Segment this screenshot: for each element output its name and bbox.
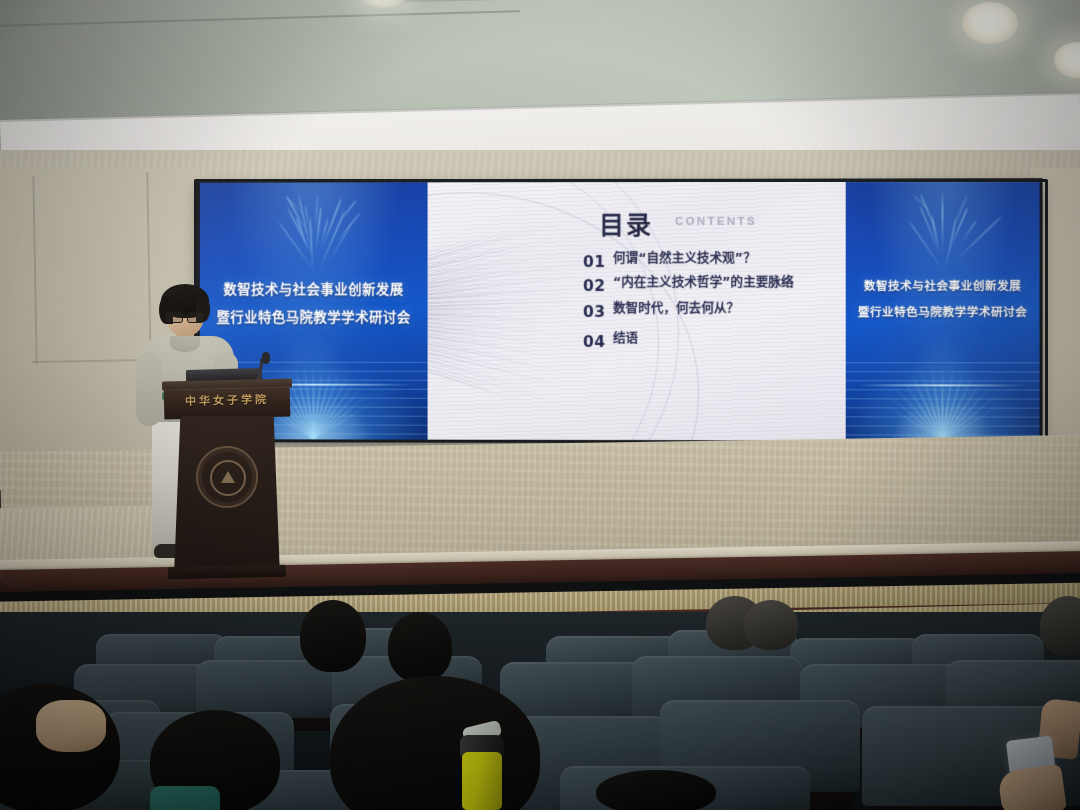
audience-hand-left: [36, 700, 106, 752]
horizon-glow-right: [857, 384, 1028, 386]
podium-base: [168, 565, 286, 579]
toc-number: 04: [583, 330, 613, 351]
toc-text: 何谓“自然主义技术观”？: [613, 250, 756, 266]
toc-item: 02 “内在主义技术哲学”的主要脉络: [583, 274, 836, 295]
ceiling-downlight-1: [962, 2, 1018, 44]
glasses-icon: [166, 312, 204, 322]
podium: 中华女子学院: [162, 380, 292, 576]
slide-toc-list: 01 何谓“自然主义技术观”？ 02 “内在主义技术哲学”的主要脉络 03 数智…: [583, 250, 836, 356]
light-ray: [941, 193, 943, 257]
glasses-lens-left: [166, 312, 183, 323]
university-crest-icon: [196, 446, 258, 508]
light-ray: [908, 220, 946, 273]
toc-number: 01: [583, 250, 613, 271]
auditorium-photo: 数智技术与社会事业创新发展 暨行业特色马院教学学术研讨会 目录 CONTENTS…: [0, 0, 1080, 810]
crest-inner-ring: [210, 460, 246, 496]
audience-clothing-green: [150, 786, 220, 810]
presentation-slide[interactable]: 目录 CONTENTS 01 何谓“自然主义技术观”？ 02 “内在主义技术哲学…: [428, 182, 846, 441]
toc-item: 03 数智时代，何去何从？: [583, 300, 836, 321]
slide-title-cn: 目录: [599, 206, 653, 242]
right-banner-line-1: 数智技术与社会事业创新发展: [846, 278, 1040, 294]
toc-item: 01 何谓“自然主义技术观”？: [583, 250, 836, 271]
thermos-bottle: [462, 752, 502, 810]
light-ray: [335, 212, 361, 242]
podium-institution-name: 中华女子学院: [164, 390, 290, 409]
toc-item: 04 结语: [583, 330, 836, 351]
audience-member: [388, 612, 452, 682]
toc-number: 02: [583, 274, 613, 295]
led-right-panel: 数智技术与社会事业创新发展 暨行业特色马院教学学术研讨会: [846, 181, 1040, 441]
right-banner-line-2: 暨行业特色马院教学学术研讨会: [846, 304, 1040, 320]
crest-triangle: [221, 471, 235, 483]
audience-member: [744, 600, 798, 650]
led-wall-screen[interactable]: 数智技术与社会事业创新发展 暨行业特色马院教学学术研讨会 目录 CONTENTS…: [200, 181, 1040, 441]
toc-text: 结语: [613, 330, 638, 346]
glasses-lens-right: [187, 312, 204, 323]
audience-member: [300, 600, 366, 672]
audience-member: [596, 770, 716, 810]
toc-text: “内在主义技术哲学”的主要脉络: [613, 274, 794, 290]
toc-number: 03: [583, 300, 613, 321]
microphone-icon: [262, 352, 270, 364]
toc-text: 数智时代，何去何从？: [613, 300, 739, 316]
slide-title-en: CONTENTS: [675, 216, 757, 228]
speaker-arm-left: [136, 352, 162, 426]
speaker-collar: [170, 336, 200, 352]
